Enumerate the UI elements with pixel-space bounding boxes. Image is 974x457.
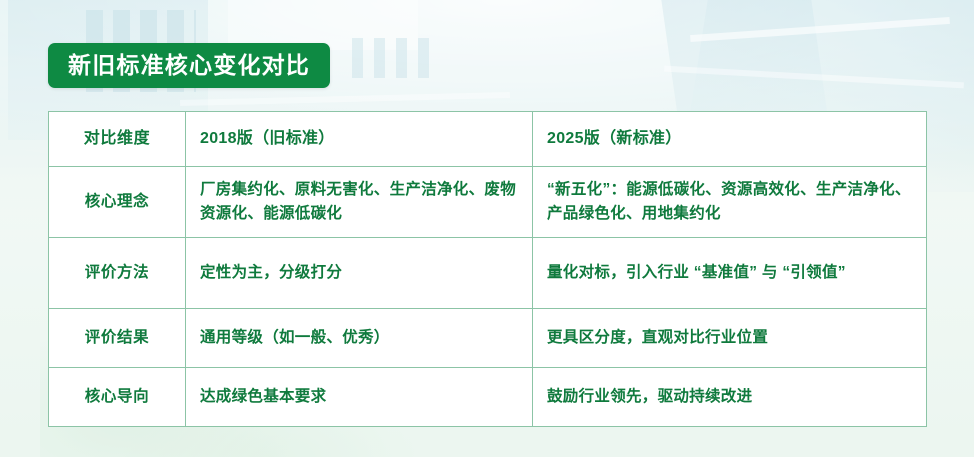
row-old-value: 厂房集约化、原料无害化、生产洁净化、废物资源化、能源低碳化 xyxy=(186,167,533,238)
row-old-value: 定性为主，分级打分 xyxy=(186,238,533,309)
row-new-value: 更具区分度，直观对比行业位置 xyxy=(533,309,927,368)
row-new-value: 鼓励行业领先，驱动持续改进 xyxy=(533,368,927,427)
table-body: 核心理念 厂房集约化、原料无害化、生产洁净化、废物资源化、能源低碳化 “新五化”… xyxy=(49,167,927,427)
row-dimension-label: 评价结果 xyxy=(49,309,186,368)
table-row: 核心导向 达成绿色基本要求 鼓励行业领先，驱动持续改进 xyxy=(49,368,927,427)
row-dimension-label: 评价方法 xyxy=(49,238,186,309)
table-row: 核心理念 厂房集约化、原料无害化、生产洁净化、废物资源化、能源低碳化 “新五化”… xyxy=(49,167,927,238)
column-header-new-version: 2025版（新标准） xyxy=(533,112,927,167)
column-header-dimension: 对比维度 xyxy=(49,112,186,167)
title-banner: 新旧标准核心变化对比 xyxy=(48,43,330,88)
table-header-row: 对比维度 2018版（旧标准） 2025版（新标准） xyxy=(49,112,927,167)
row-dimension-label: 核心导向 xyxy=(49,368,186,427)
table-row: 评价方法 定性为主，分级打分 量化对标，引入行业 “基准值” 与 “引领值” xyxy=(49,238,927,309)
comparison-table: 对比维度 2018版（旧标准） 2025版（新标准） 核心理念 厂房集约化、原料… xyxy=(48,111,927,427)
row-new-value: 量化对标，引入行业 “基准值” 与 “引领值” xyxy=(533,238,927,309)
row-dimension-label: 核心理念 xyxy=(49,167,186,238)
table-row: 评价结果 通用等级（如一般、优秀） 更具区分度，直观对比行业位置 xyxy=(49,309,927,368)
slide-canvas: 新旧标准核心变化对比 对比维度 2018版（旧标准） 2025版（新标准） 核心… xyxy=(0,0,974,457)
table-header: 对比维度 2018版（旧标准） 2025版（新标准） xyxy=(49,112,927,167)
row-old-value: 通用等级（如一般、优秀） xyxy=(186,309,533,368)
row-new-value: “新五化”：能源低碳化、资源高效化、生产洁净化、产品绿色化、用地集约化 xyxy=(533,167,927,238)
column-header-old-version: 2018版（旧标准） xyxy=(186,112,533,167)
page-title: 新旧标准核心变化对比 xyxy=(68,54,310,77)
row-old-value: 达成绿色基本要求 xyxy=(186,368,533,427)
